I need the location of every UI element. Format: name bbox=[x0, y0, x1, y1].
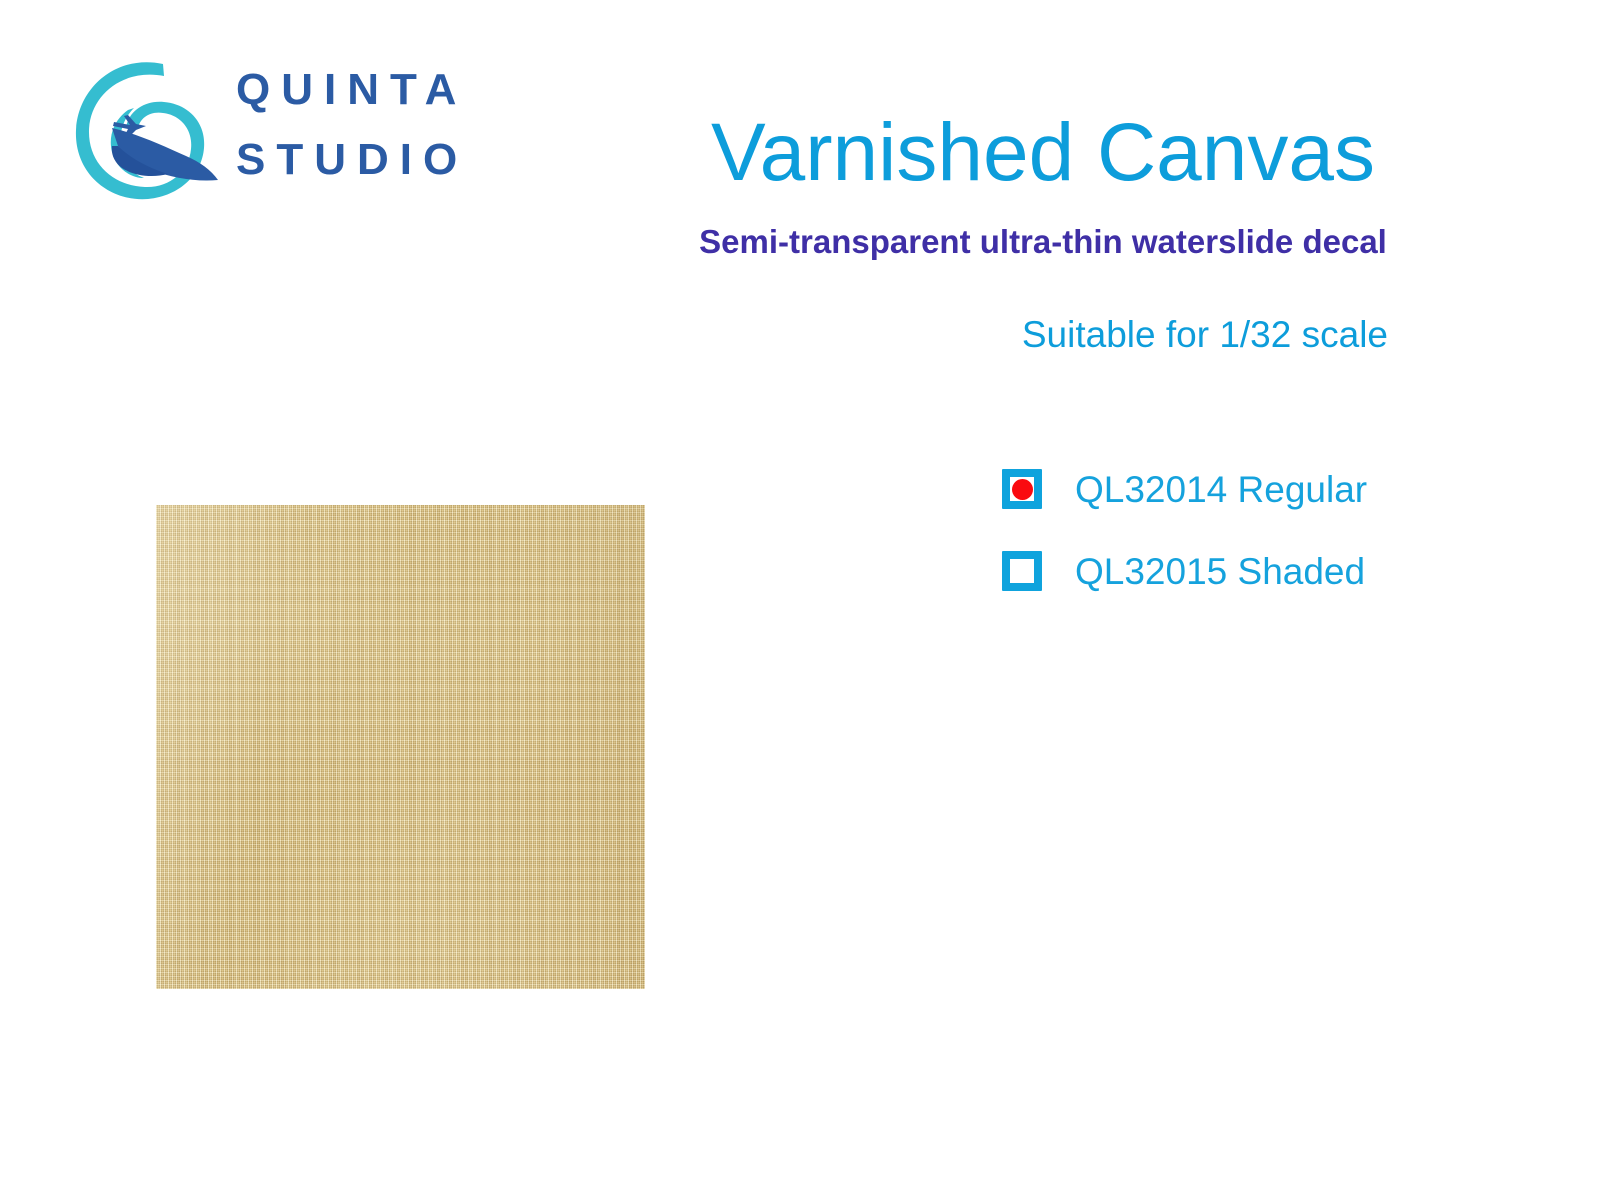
quinta-studio-swirl-jet-logo bbox=[68, 52, 223, 204]
variant-checklist: QL32014 Regular QL32015 Shaded bbox=[1002, 448, 1402, 612]
canvas-swatch bbox=[156, 505, 645, 989]
product-subtitle: Semi-transparent ultra-thin waterslide d… bbox=[690, 196, 1396, 260]
variant-label-ql32014: QL32014 Regular bbox=[1075, 471, 1367, 508]
brand-line-quinta: QUINTA bbox=[236, 68, 467, 112]
page-title: Varnished Canvas bbox=[690, 110, 1396, 196]
variant-row-shaded[interactable]: QL32015 Shaded bbox=[1002, 530, 1402, 612]
brand-line-studio: STUDIO bbox=[236, 138, 468, 182]
unselected-dot-icon bbox=[1012, 561, 1033, 582]
brand-logo: QUINTA STUDIO bbox=[68, 52, 548, 207]
variant-row-regular[interactable]: QL32014 Regular bbox=[1002, 448, 1402, 530]
scale-note: Suitable for 1/32 scale bbox=[690, 260, 1396, 356]
brand-wordmark: QUINTA STUDIO bbox=[236, 60, 556, 200]
checkbox-ql32015[interactable] bbox=[1002, 551, 1042, 591]
checkbox-ql32014[interactable] bbox=[1002, 469, 1042, 509]
headline-column: Varnished Canvas Semi-transparent ultra-… bbox=[690, 110, 1396, 356]
variant-label-ql32015: QL32015 Shaded bbox=[1075, 553, 1365, 590]
canvas-swatch-texture bbox=[156, 505, 645, 989]
selected-dot-icon bbox=[1012, 479, 1033, 500]
product-card-page: QUINTA STUDIO Varnished Canvas Semi-tran… bbox=[0, 0, 1600, 1200]
